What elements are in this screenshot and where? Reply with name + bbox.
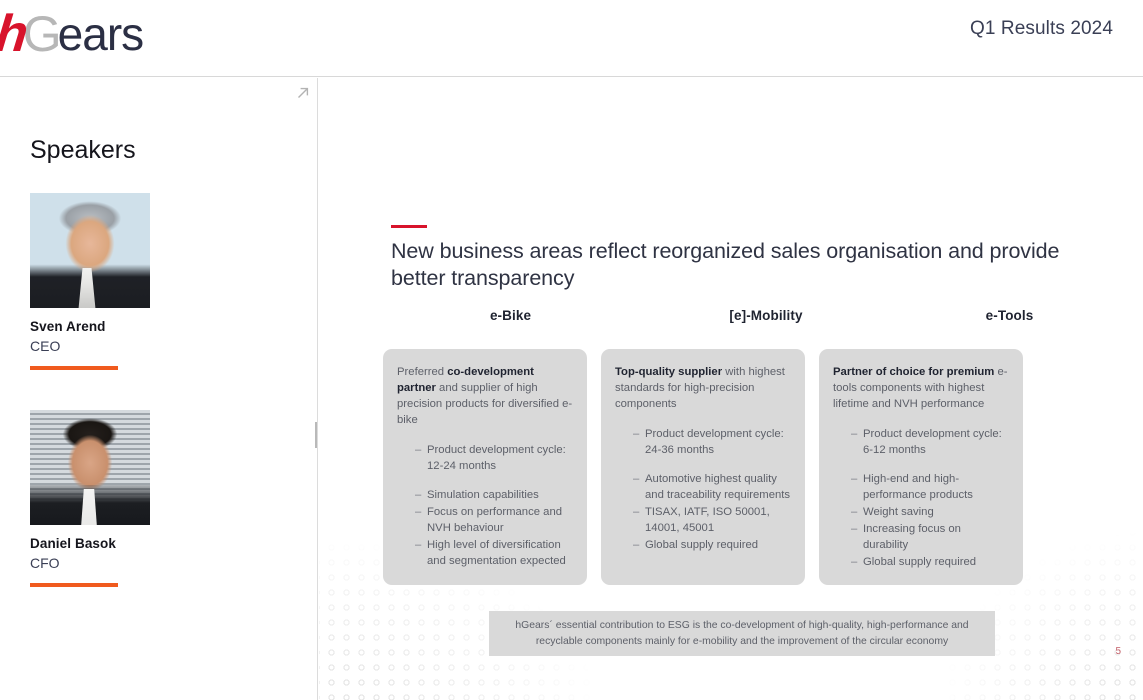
accent-bar — [30, 366, 118, 370]
esg-banner: hGears´ essential contribution to ESG is… — [489, 611, 995, 656]
slide-page-number: 5 — [1115, 646, 1121, 657]
speaker-role: CFO — [30, 555, 190, 571]
card-lead-text: Top-quality supplier with highest standa… — [615, 364, 791, 412]
bullet-dash: – — [851, 471, 863, 503]
logo-letters-ears: ears — [58, 11, 143, 57]
bullet-group: – High-end and high-performance products… — [833, 471, 1009, 570]
title-accent-rule — [391, 225, 427, 228]
card-lead-text: Preferred co-development partner and sup… — [397, 364, 573, 428]
bullet-group: – Product development cycle: 24-36 month… — [615, 426, 791, 458]
slide-viewer-app: hGears Q1 Results 2024 Speakers Sven Are… — [0, 0, 1143, 700]
speaker-card-daniel-basok[interactable]: Daniel Basok CFO — [30, 410, 190, 587]
bullet-dash: – — [415, 442, 427, 474]
avatar — [30, 193, 150, 308]
column-header-e-tools: e-Tools — [894, 308, 1125, 323]
bullet-text: Simulation capabilities — [427, 487, 573, 503]
expand-arrow-icon[interactable] — [294, 84, 312, 102]
bullet-dash: – — [851, 504, 863, 520]
bullet-item: – Global supply required — [615, 537, 791, 553]
bullet-item: – Weight saving — [833, 504, 1009, 520]
bullet-item: – Automotive highest quality and traceab… — [615, 471, 791, 503]
card-e-mobility: Top-quality supplier with highest standa… — [601, 349, 805, 585]
speaker-name: Sven Arend — [30, 319, 190, 334]
app-header: hGears Q1 Results 2024 — [0, 0, 1143, 77]
speakers-heading: Speakers — [30, 136, 136, 165]
bullet-text: Global supply required — [863, 554, 1009, 570]
bullet-dash: – — [633, 504, 645, 536]
lead-bold: Top-quality supplier — [615, 366, 722, 378]
speaker-card-sven-arend[interactable]: Sven Arend CEO — [30, 193, 190, 370]
bullet-dash: – — [415, 504, 427, 536]
bullet-text: TISAX, IATF, ISO 50001, 14001, 45001 — [645, 504, 791, 536]
card-e-tools: Partner of choice for premium e-tools co… — [819, 349, 1023, 585]
handle-bar — [315, 422, 317, 448]
lead-prefix: Preferred — [397, 366, 447, 378]
bullet-dash: – — [415, 487, 427, 503]
bullet-text: Product development cycle: 24-36 months — [645, 426, 791, 458]
bullet-group: – Simulation capabilities – Focus on per… — [397, 487, 573, 569]
bullet-dash: – — [633, 537, 645, 553]
speakers-sidebar: Speakers Sven Arend CEO Daniel Basok CFO — [0, 78, 318, 700]
slide-canvas: New business areas reflect reorganized s… — [319, 78, 1143, 700]
bullet-dash: – — [851, 521, 863, 553]
bullet-text: Automotive highest quality and traceabil… — [645, 471, 791, 503]
bullet-item: – Global supply required — [833, 554, 1009, 570]
bullet-dash: – — [415, 537, 427, 569]
lead-bold: Partner of choice for premium — [833, 366, 994, 378]
page-title: Q1 Results 2024 — [970, 18, 1113, 40]
bullet-dash: – — [851, 554, 863, 570]
bullet-text: High level of diversification and segmen… — [427, 537, 573, 569]
bullet-text: Focus on performance and NVH behaviour — [427, 504, 573, 536]
bullet-dash: – — [633, 471, 645, 503]
bullet-text: Weight saving — [863, 504, 1009, 520]
bullet-item: – Increasing focus on durability — [833, 521, 1009, 553]
bullet-item: – Focus on performance and NVH behaviour — [397, 504, 573, 536]
bullet-item: – High level of diversification and segm… — [397, 537, 573, 569]
bullet-item: – Product development cycle: 6-12 months — [833, 426, 1009, 458]
slide-title: New business areas reflect reorganized s… — [391, 238, 1111, 292]
bullet-item: – Simulation capabilities — [397, 487, 573, 503]
hgears-logo: hGears — [0, 8, 143, 60]
accent-bar — [30, 583, 118, 587]
bullet-item: – Product development cycle: 24-36 month… — [615, 426, 791, 458]
bullet-text: High-end and high-performance products — [863, 471, 1009, 503]
bullet-dash: – — [633, 426, 645, 458]
business-area-cards: Preferred co-development partner and sup… — [383, 349, 1125, 585]
column-header-e-bike: e-Bike — [383, 308, 638, 323]
bullet-item: – High-end and high-performance products — [833, 471, 1009, 503]
bullet-text: Global supply required — [645, 537, 791, 553]
bullet-text: Increasing focus on durability — [863, 521, 1009, 553]
speaker-role: CEO — [30, 338, 190, 354]
bullet-group: – Product development cycle: 6-12 months — [833, 426, 1009, 458]
avatar — [30, 410, 150, 525]
bullet-group: – Automotive highest quality and traceab… — [615, 471, 791, 553]
bullet-item: – TISAX, IATF, ISO 50001, 14001, 45001 — [615, 504, 791, 536]
bullet-text: Product development cycle: 6-12 months — [863, 426, 1009, 458]
bullet-group: – Product development cycle: 12-24 month… — [397, 442, 573, 474]
column-headers: e-Bike [e]-Mobility e-Tools — [383, 308, 1125, 323]
bullet-text: Product development cycle: 12-24 months — [427, 442, 573, 474]
speaker-name: Daniel Basok — [30, 536, 190, 551]
card-e-bike: Preferred co-development partner and sup… — [383, 349, 587, 585]
card-lead-text: Partner of choice for premium e-tools co… — [833, 364, 1009, 412]
column-header-e-mobility: [e]-Mobility — [638, 308, 894, 323]
bullet-dash: – — [851, 426, 863, 458]
bullet-item: – Product development cycle: 12-24 month… — [397, 442, 573, 474]
